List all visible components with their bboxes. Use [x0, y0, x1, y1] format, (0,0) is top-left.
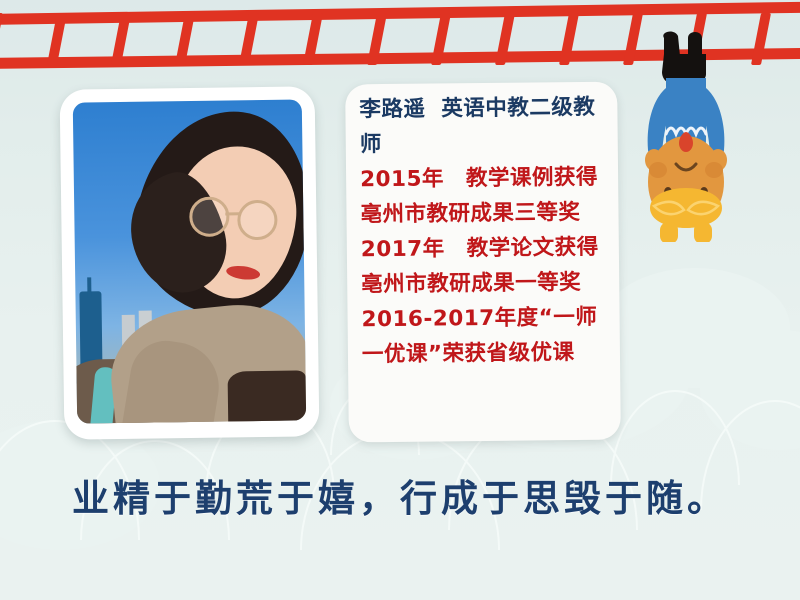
cloud-shape — [700, 330, 800, 450]
motto-text: 业精于勤荒于嬉，行成于思毁于随。 — [0, 468, 800, 522]
slide-canvas: 李路遥 英语中教二级教师 2015年 教学课例获得亳州市教研成果三等奖 2017… — [0, 0, 800, 600]
bio-line-award-3: 2016-2017年度“一师一优课”荣获省级优课 — [361, 300, 608, 373]
photo-person-glasses-bridge — [225, 212, 239, 215]
photo-building — [87, 277, 91, 297]
teacher-portrait-photo — [73, 99, 306, 423]
bio-line-name: 李路遥 英语中教二级教师 — [359, 90, 606, 163]
teacher-photo-frame — [60, 86, 320, 440]
photo-person-shoulder — [228, 370, 307, 423]
teacher-bio-card: 李路遥 英语中教二级教师 2015年 教学课例获得亳州市教研成果三等奖 2017… — [345, 82, 621, 443]
hanging-child-figure — [644, 30, 764, 242]
cloud-shape — [600, 268, 790, 388]
bio-line-award-2: 2017年 教学论文获得亳州市教研成果一等奖 — [361, 230, 608, 303]
bio-line-award-1: 2015年 教学课例获得亳州市教研成果三等奖 — [360, 160, 607, 233]
hanging-child-icon — [644, 30, 764, 242]
